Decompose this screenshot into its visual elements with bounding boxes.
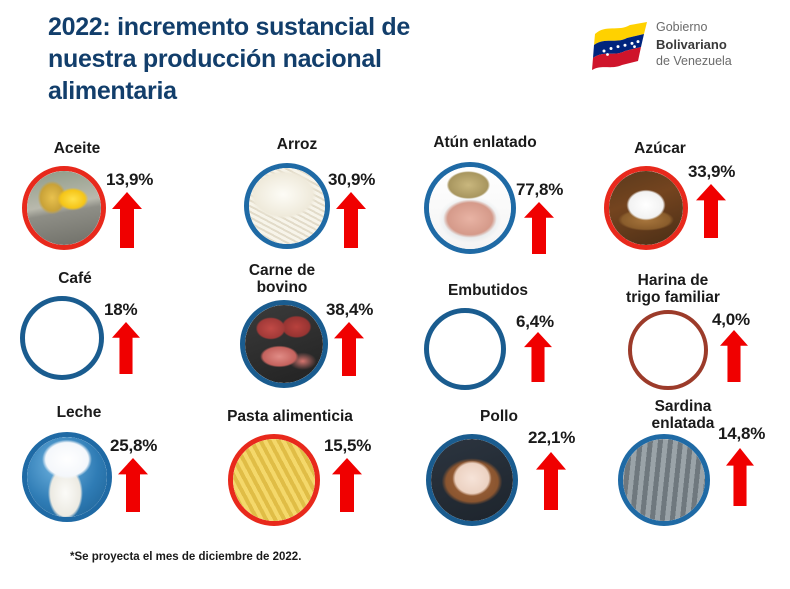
- item-percentage-embutidos: 6,4%: [516, 312, 554, 332]
- item-photo-circle-pollo: [426, 434, 518, 526]
- item-label-embutidos: Embutidos: [418, 282, 558, 299]
- white-rice-photo: [249, 168, 325, 244]
- item-photo-circle-embutidos: [424, 308, 506, 390]
- sugar-scoop-photo: [609, 171, 683, 245]
- raw-chicken-photo: [431, 439, 513, 521]
- item-percentage-aceite: 13,9%: [106, 170, 153, 190]
- canned-tuna-photo: [429, 167, 511, 249]
- item-label-pasta-alimenticia: Pasta alimenticia: [200, 408, 380, 425]
- item-percentage-pasta-alimenticia: 15,5%: [324, 436, 371, 456]
- coffee-beans-photo: [25, 301, 99, 375]
- up-arrow-icon-at-n-enlatado: [524, 202, 554, 254]
- item-label-at-n-enlatado: Atún enlatado: [410, 134, 560, 151]
- item-label-aceite: Aceite: [22, 140, 132, 157]
- item-label-az-car: Azúcar: [600, 140, 720, 157]
- item-label-harina-de-trigo-familiar: Harina de trigo familiar: [598, 272, 748, 307]
- item-photo-circle-sardina-enlatada: [618, 434, 710, 526]
- up-arrow-icon-arroz: [336, 192, 366, 248]
- item-photo-circle-carne-de-bovino: [240, 300, 328, 388]
- item-percentage-pollo: 22,1%: [528, 428, 575, 448]
- item-photo-circle-az-car: [604, 166, 688, 250]
- up-arrow-icon-carne-de-bovino: [334, 322, 364, 376]
- up-arrow-icon-embutidos: [524, 332, 552, 382]
- item-label-leche: Leche: [24, 404, 134, 421]
- beef-cuts-photo: [245, 305, 323, 383]
- item-photo-circle-pasta-alimenticia: [228, 434, 320, 526]
- item-percentage-carne-de-bovino: 38,4%: [326, 300, 373, 320]
- item-label-caf: Café: [20, 270, 130, 287]
- pasta-photo: [233, 439, 315, 521]
- item-photo-circle-at-n-enlatado: [424, 162, 516, 254]
- up-arrow-icon-sardina-enlatada: [726, 448, 754, 506]
- up-arrow-icon-pollo: [536, 452, 566, 510]
- item-photo-circle-aceite: [22, 166, 106, 250]
- item-percentage-leche: 25,8%: [110, 436, 157, 456]
- footnote: *Se proyecta el mes de diciembre de 2022…: [70, 551, 301, 563]
- title-line-2: nuestra producción nacional: [48, 44, 568, 76]
- item-label-carne-de-bovino: Carne de bovino: [212, 262, 352, 297]
- item-percentage-sardina-enlatada: 14,8%: [718, 424, 765, 444]
- wheat-flour-photo: [632, 314, 704, 386]
- up-arrow-icon-az-car: [696, 184, 726, 238]
- logo-text: Gobierno Bolivariano de Venezuela: [656, 19, 771, 69]
- canned-sardines-photo: [623, 439, 705, 521]
- logo-line-3: de Venezuela: [656, 53, 771, 70]
- venezuela-flag-icon: [592, 20, 650, 70]
- item-percentage-caf: 18%: [104, 300, 137, 320]
- item-label-pollo: Pollo: [444, 408, 554, 425]
- item-percentage-arroz: 30,9%: [328, 170, 375, 190]
- sausages-photo: [429, 313, 501, 385]
- logo-line-1: Gobierno: [656, 19, 771, 36]
- item-percentage-harina-de-trigo-familiar: 4,0%: [712, 310, 750, 330]
- title-line-3: alimentaria: [48, 76, 568, 108]
- item-photo-circle-caf: [20, 296, 104, 380]
- logo-line-2: Bolivariano: [656, 36, 771, 53]
- item-percentage-az-car: 33,9%: [688, 162, 735, 182]
- page-title: 2022: incremento sustancial de nuestra p…: [48, 12, 568, 107]
- item-label-arroz: Arroz: [242, 136, 352, 153]
- up-arrow-icon-pasta-alimenticia: [332, 458, 362, 512]
- item-photo-circle-leche: [22, 432, 112, 522]
- up-arrow-icon-leche: [118, 458, 148, 512]
- item-photo-circle-harina-de-trigo-familiar: [628, 310, 708, 390]
- title-line-1: 2022: incremento sustancial de: [48, 12, 568, 44]
- item-percentage-at-n-enlatado: 77,8%: [516, 180, 563, 200]
- up-arrow-icon-harina-de-trigo-familiar: [720, 330, 748, 382]
- up-arrow-icon-caf: [112, 322, 140, 374]
- oil-pouring-photo: [27, 171, 101, 245]
- milk-glass-photo: [27, 437, 107, 517]
- header: 2022: incremento sustancial de nuestra p…: [0, 0, 790, 118]
- government-logo: Gobierno Bolivariano de Venezuela: [592, 18, 772, 76]
- item-photo-circle-arroz: [244, 163, 330, 249]
- up-arrow-icon-aceite: [112, 192, 142, 248]
